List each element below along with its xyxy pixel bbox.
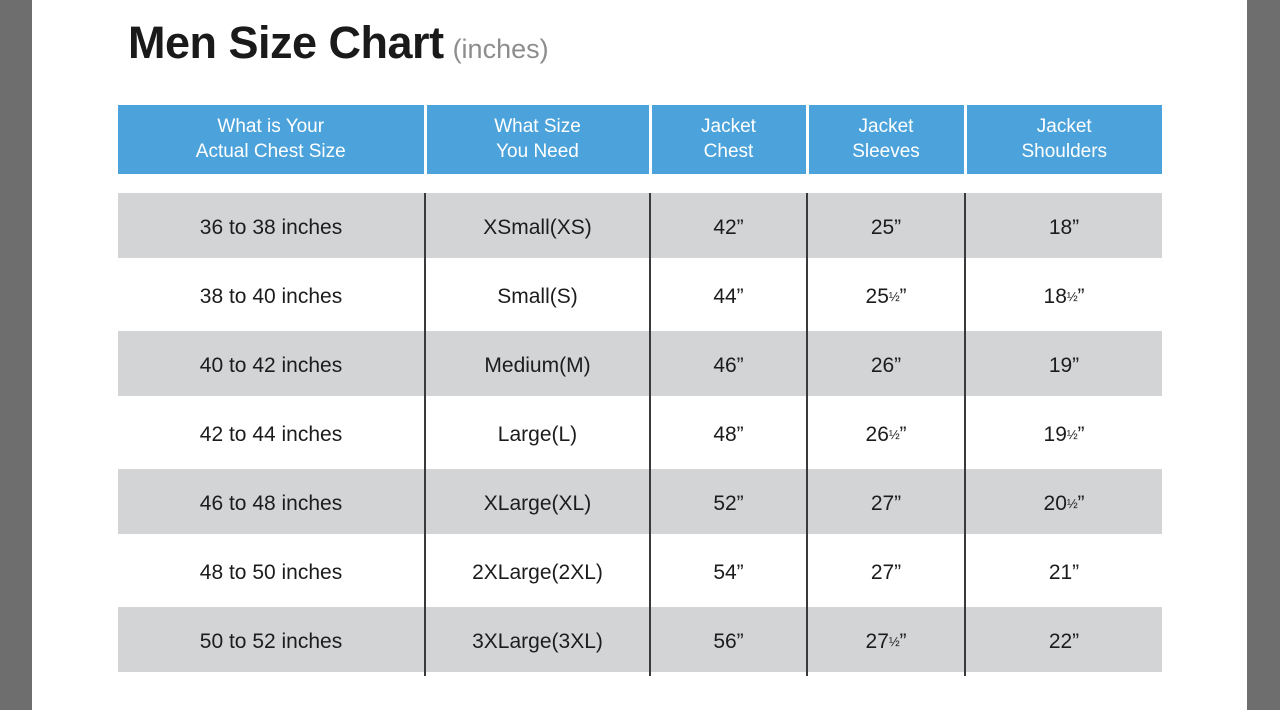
cell-size-needed: XSmall(XS) <box>425 193 650 262</box>
cell-size-needed: 2XLarge(2XL) <box>425 538 650 607</box>
cell-jacket-shoulders: 21” <box>965 538 1162 607</box>
cell-jacket-chest: 44” <box>650 262 807 331</box>
cell-jacket-shoulders: 19½” <box>965 400 1162 469</box>
cell-size-needed: Medium(M) <box>425 331 650 400</box>
column-header-actual-chest-line1: What is Your <box>118 115 424 139</box>
column-header-actual-chest-line2: Actual Chest Size <box>118 140 424 164</box>
table-row: 40 to 42 inchesMedium(M)46”26”19” <box>118 331 1162 400</box>
column-header-jacket-sleeves-line2: Sleeves <box>809 140 964 164</box>
cell-jacket-chest: 56” <box>650 607 807 676</box>
table-header-row: What is Your Actual Chest Size What Size… <box>118 105 1162 174</box>
column-header-jacket-chest-line2: Chest <box>652 140 806 164</box>
cell-jacket-sleeves: 27” <box>807 538 965 607</box>
table-row: 42 to 44 inchesLarge(L)48”26½”19½” <box>118 400 1162 469</box>
cell-jacket-chest: 46” <box>650 331 807 400</box>
column-header-jacket-sleeves-line1: Jacket <box>809 115 964 139</box>
cell-jacket-chest: 48” <box>650 400 807 469</box>
cell-jacket-shoulders: 20½” <box>965 469 1162 538</box>
cell-actual-chest: 50 to 52 inches <box>118 607 425 676</box>
chart-canvas: Men Size Chart (inches) What is Your Act… <box>32 0 1247 710</box>
table-row: 50 to 52 inches3XLarge(3XL)56”27½”22” <box>118 607 1162 676</box>
size-chart-table: What is Your Actual Chest Size What Size… <box>118 105 1162 676</box>
cell-jacket-chest: 52” <box>650 469 807 538</box>
cell-jacket-sleeves: 26” <box>807 331 965 400</box>
table-row: 46 to 48 inchesXLarge(XL)52”27”20½” <box>118 469 1162 538</box>
cell-jacket-sleeves: 26½” <box>807 400 965 469</box>
column-header-actual-chest: What is Your Actual Chest Size <box>118 105 425 174</box>
cell-actual-chest: 46 to 48 inches <box>118 469 425 538</box>
table-row: 38 to 40 inchesSmall(S)44”25½”18½” <box>118 262 1162 331</box>
page-title-unit: (inches) <box>453 36 549 63</box>
cell-jacket-shoulders: 18½” <box>965 262 1162 331</box>
cell-actual-chest: 38 to 40 inches <box>118 262 425 331</box>
cell-size-needed: 3XLarge(3XL) <box>425 607 650 676</box>
column-header-jacket-shoulders-line1: Jacket <box>967 115 1163 139</box>
table-body: 36 to 38 inchesXSmall(XS)42”25”18”38 to … <box>118 174 1162 676</box>
cell-jacket-sleeves: 25” <box>807 193 965 262</box>
column-header-jacket-chest: Jacket Chest <box>650 105 807 174</box>
header-body-gap <box>118 174 1162 193</box>
column-header-size-needed: What Size You Need <box>425 105 650 174</box>
column-header-jacket-chest-line1: Jacket <box>652 115 806 139</box>
cell-jacket-sleeves: 25½” <box>807 262 965 331</box>
page-title: Men Size Chart (inches) <box>128 20 549 65</box>
cell-size-needed: Large(L) <box>425 400 650 469</box>
table-row: 48 to 50 inches2XLarge(2XL)54”27”21” <box>118 538 1162 607</box>
cell-actual-chest: 36 to 38 inches <box>118 193 425 262</box>
cell-actual-chest: 48 to 50 inches <box>118 538 425 607</box>
cell-jacket-sleeves: 27” <box>807 469 965 538</box>
cell-size-needed: Small(S) <box>425 262 650 331</box>
cell-jacket-shoulders: 19” <box>965 331 1162 400</box>
column-header-jacket-shoulders-line2: Shoulders <box>967 140 1163 164</box>
cell-jacket-shoulders: 18” <box>965 193 1162 262</box>
table-header: What is Your Actual Chest Size What Size… <box>118 105 1162 174</box>
cell-jacket-shoulders: 22” <box>965 607 1162 676</box>
column-header-jacket-shoulders: Jacket Shoulders <box>965 105 1162 174</box>
page-title-main: Men Size Chart <box>128 20 444 65</box>
cell-jacket-chest: 42” <box>650 193 807 262</box>
cell-actual-chest: 42 to 44 inches <box>118 400 425 469</box>
table-row: 36 to 38 inchesXSmall(XS)42”25”18” <box>118 193 1162 262</box>
cell-jacket-sleeves: 27½” <box>807 607 965 676</box>
column-header-size-needed-line1: What Size <box>427 115 649 139</box>
letterbox-bar-right <box>1247 0 1280 710</box>
cell-actual-chest: 40 to 42 inches <box>118 331 425 400</box>
cell-size-needed: XLarge(XL) <box>425 469 650 538</box>
column-header-jacket-sleeves: Jacket Sleeves <box>807 105 965 174</box>
cell-jacket-chest: 54” <box>650 538 807 607</box>
column-header-size-needed-line2: You Need <box>427 140 649 164</box>
letterbox-bar-left <box>0 0 32 710</box>
